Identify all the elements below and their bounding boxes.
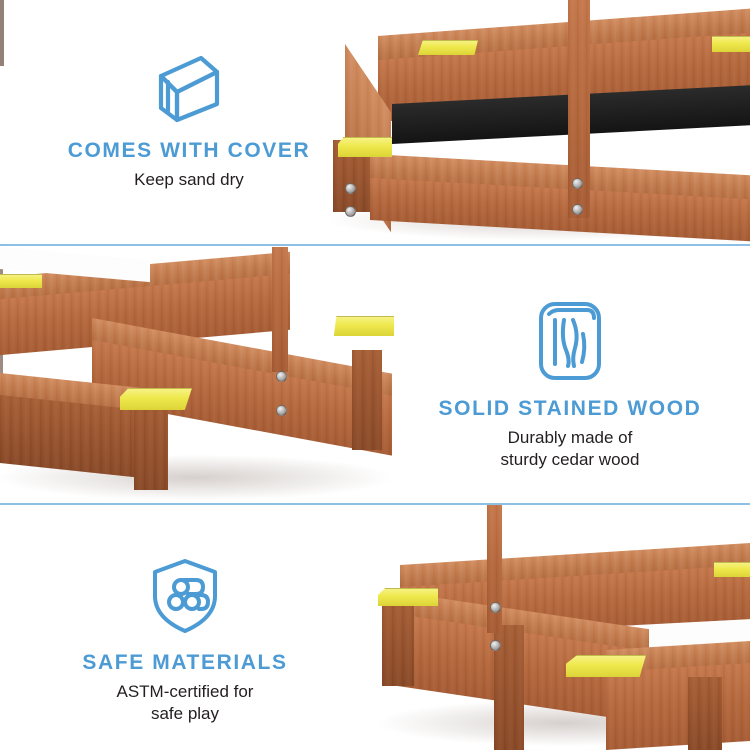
sandbox-photo-cover [0,0,4,66]
umbrella-pole [487,505,502,633]
feature-subtext-line-2: safe play [20,703,350,725]
corner-cap-left [378,588,438,606]
umbrella-pole [272,247,288,372]
screw-left-lower [345,206,356,217]
screw-lower [572,204,583,215]
feature-text-safe: SAFE MATERIALS ASTM-certified for safe p… [20,556,350,725]
feature-subtext-line-1: ASTM-certified for [20,681,350,703]
panel-divider-2 [0,503,750,505]
screw-upper [572,178,583,189]
corner-cap-right [330,316,394,336]
sandbox-right-leg [352,350,382,450]
folded-cover-icon [24,52,354,129]
corner-cap-front [566,655,646,677]
post-slot [0,0,4,66]
screw-lower [276,405,287,416]
screw-upper [276,371,287,382]
corner-cap-back-left [418,40,478,55]
feature-panel-cover: COMES WITH COVER Keep sand dry [0,0,750,245]
corner-cap-far-right [714,562,750,577]
feature-subtext-line-2: sturdy cedar wood [405,449,735,471]
screw-lower [490,640,501,651]
corner-cap-front [120,388,192,410]
corner-cap-back-right [712,36,750,52]
shield-logs-icon [20,556,350,641]
feature-headline: COMES WITH COVER [24,139,354,162]
feature-subtext-line-1: Durably made of [405,427,735,449]
feature-headline: SOLID STAINED WOOD [405,397,735,420]
feature-text-wood: SOLID STAINED WOOD Durably made of sturd… [405,300,735,471]
sandbox-right-leg [688,677,722,750]
sandbox-front-wall [0,394,140,478]
feature-panel-wood: SOLID STAINED WOOD Durably made of sturd… [0,247,750,503]
panel-divider-1 [0,244,750,246]
product-feature-infographic: COMES WITH COVER Keep sand dry [0,0,750,750]
wood-plank-icon [405,300,735,387]
corner-cap-back-left [0,274,42,288]
feature-subtext: Keep sand dry [24,169,354,191]
feature-panel-safe: SAFE MATERIALS ASTM-certified for safe p… [0,505,750,750]
sandbox-left-leg [382,598,414,686]
screw-upper [490,602,501,613]
feature-text-cover: COMES WITH COVER Keep sand dry [24,52,354,191]
feature-headline: SAFE MATERIALS [20,651,350,674]
